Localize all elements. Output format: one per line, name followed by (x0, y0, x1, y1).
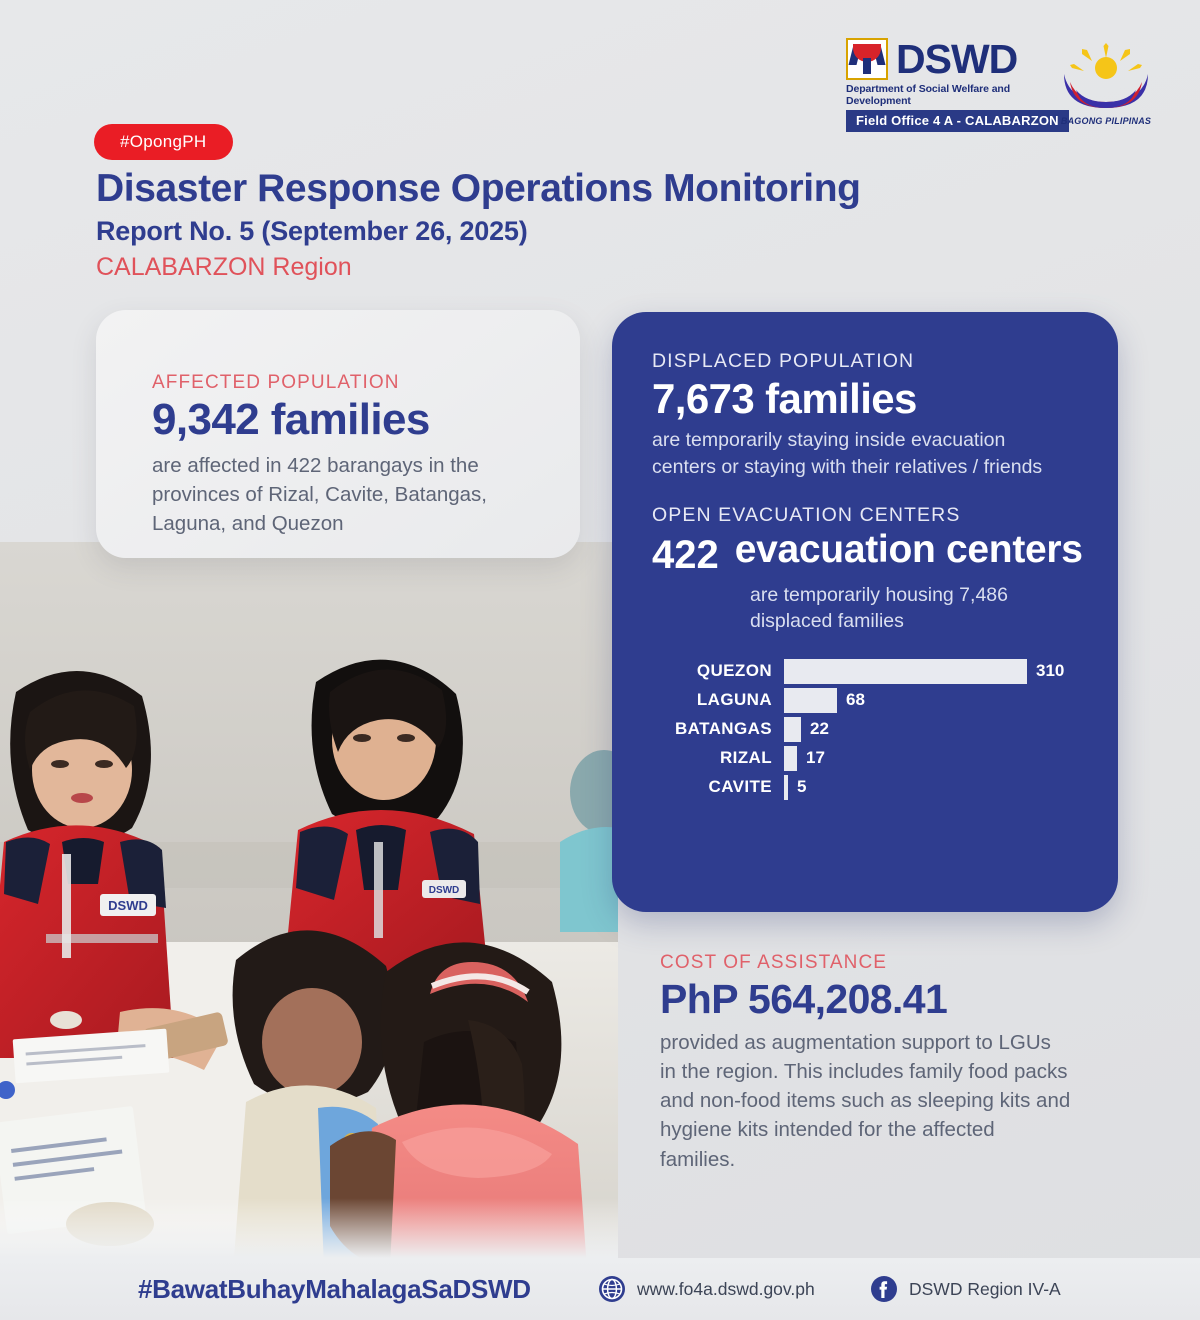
bar-fill (784, 775, 788, 800)
bar-value-label: 68 (846, 690, 865, 710)
page-title: Disaster Response Operations Monitoring (96, 168, 956, 211)
affected-population-value: 9,342 families (152, 395, 580, 446)
page-title-block: Disaster Response Operations Monitoring … (96, 168, 956, 283)
svg-text:DSWD: DSWD (429, 885, 460, 896)
bar-category-label: CAVITE (654, 777, 784, 797)
facebook-icon (870, 1275, 898, 1303)
bar-fill (784, 746, 797, 771)
bagong-pilipinas-label: BAGONG PILIPINAS (1061, 116, 1151, 126)
bar-category-label: BATANGAS (654, 719, 784, 739)
bar-value-label: 22 (810, 719, 829, 739)
field-operations-photo: DSWD DSWD (0, 542, 618, 1258)
footer-website[interactable]: www.fo4a.dswd.gov.ph (598, 1275, 815, 1303)
bar-row: RIZAL17 (654, 744, 1118, 773)
bar-fill (784, 659, 1027, 684)
bar-value-label: 310 (1036, 661, 1064, 681)
evacuation-centers-unit: evacuation centers (735, 529, 1083, 572)
bar-row: LAGUNA68 (654, 686, 1118, 715)
displaced-population-card: DISPLACED POPULATION 7,673 families are … (612, 312, 1118, 912)
bar-category-label: RIZAL (654, 748, 784, 768)
evacuation-centers-bar-chart: QUEZON310LAGUNA68BATANGAS22RIZAL17CAVITE… (654, 657, 1118, 802)
evacuation-centers-description: are temporarily housing 7,486 displaced … (750, 582, 1080, 635)
footer-facebook[interactable]: DSWD Region IV-A (870, 1275, 1061, 1303)
displaced-population-label: DISPLACED POPULATION (652, 350, 1118, 373)
cost-of-assistance-label: COST OF ASSISTANCE (660, 952, 1090, 974)
svg-text:DSWD: DSWD (108, 898, 148, 913)
field-office-badge: Field Office 4 A - CALABARZON (846, 110, 1069, 132)
dswd-emblem-icon (846, 38, 888, 80)
footer-facebook-text: DSWD Region IV-A (909, 1279, 1061, 1300)
bagong-pilipinas-seal-icon (1060, 40, 1152, 114)
footer-website-text: www.fo4a.dswd.gov.ph (637, 1279, 815, 1300)
displaced-population-value: 7,673 families (652, 375, 1118, 423)
footer-hashtag: #BawatBuhayMahalagaSaDSWD (138, 1274, 531, 1305)
bar-row: QUEZON310 (654, 657, 1118, 686)
affected-population-description: are affected in 422 barangays in the pro… (152, 451, 530, 538)
footer-bar: #BawatBuhayMahalagaSaDSWD www.fo4a.dswd.… (0, 1258, 1200, 1320)
bagong-pilipinas-logo: BAGONG PILIPINAS (1060, 40, 1152, 132)
affected-population-label: AFFECTED POPULATION (152, 372, 580, 394)
hashtag-badge: #OpongPH (94, 124, 233, 160)
evacuation-centers-count: 422 (652, 529, 719, 578)
bar-value-label: 17 (806, 748, 825, 768)
bar-value-label: 5 (797, 777, 806, 797)
bar-category-label: QUEZON (654, 661, 784, 681)
dswd-full-name: Department of Social Welfare and Develop… (846, 83, 1056, 107)
bar-fill (784, 717, 801, 742)
cost-of-assistance-description: provided as augmentation support to LGUs… (660, 1028, 1072, 1174)
bar-category-label: LAGUNA (654, 690, 784, 710)
affected-population-card: AFFECTED POPULATION 9,342 families are a… (96, 310, 580, 558)
bar-fill (784, 688, 837, 713)
region-label: CALABARZON Region (96, 251, 956, 284)
displaced-population-description: are temporarily staying inside evacuatio… (652, 427, 1052, 480)
bar-row: CAVITE5 (654, 773, 1118, 802)
evacuation-centers-label: OPEN EVACUATION CENTERS (652, 504, 1118, 527)
bar-row: BATANGAS22 (654, 715, 1118, 744)
cost-of-assistance-block: COST OF ASSISTANCE PhP 564,208.41 provid… (660, 952, 1090, 1174)
report-number: Report No. 5 (September 26, 2025) (96, 214, 956, 249)
globe-icon (598, 1275, 626, 1303)
dswd-logo: DSWD Department of Social Welfare and De… (846, 38, 1056, 130)
dswd-wordmark: DSWD (896, 39, 1017, 80)
cost-of-assistance-amount: PhP 564,208.41 (660, 976, 1090, 1023)
